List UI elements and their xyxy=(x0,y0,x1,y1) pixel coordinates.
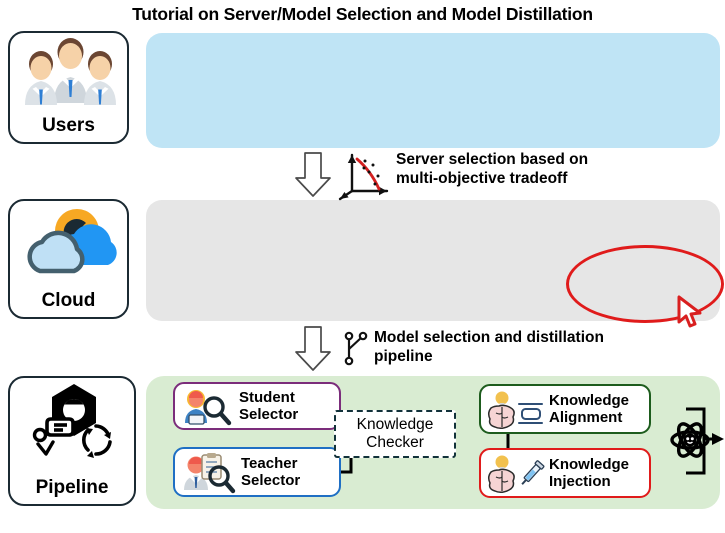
student-search-icon xyxy=(180,386,236,426)
role-label-users: Users xyxy=(42,116,95,142)
knowledge-alignment-line1: Knowledge xyxy=(549,392,629,409)
student-selector-line1: Student xyxy=(239,389,295,406)
pipeline-node-teacher-selector[interactable]: Teacher Selector xyxy=(173,447,341,497)
brain-screen-icon xyxy=(486,389,548,429)
cloud-weather-icon xyxy=(10,201,127,291)
diagram-canvas: Tutorial on Server/Model Selection and M… xyxy=(0,0,725,533)
pipeline-label-knowledge-checker: Knowledge Checker xyxy=(336,416,454,451)
connector2-label: Model selection and distillation pipelin… xyxy=(374,328,604,367)
role-label-pipeline: Pipeline xyxy=(36,478,109,504)
pipeline-node-knowledge-alignment[interactable]: Knowledge Alignment xyxy=(479,384,651,434)
role-label-cloud: Cloud xyxy=(42,291,96,317)
pipeline-node-knowledge-checker[interactable]: Knowledge Checker xyxy=(334,410,456,458)
atom-model-icon xyxy=(668,418,712,462)
pipeline-gear-icon xyxy=(10,378,134,478)
teacher-selector-line1: Teacher xyxy=(241,455,297,472)
pipeline-node-student-selector[interactable]: Student Selector xyxy=(173,382,341,430)
connector2-label-line1: Model selection and distillation xyxy=(374,328,604,347)
role-card-users[interactable]: Users xyxy=(8,31,129,144)
pipeline-label-knowledge-alignment: Knowledge Alignment xyxy=(549,392,629,426)
pareto-tradeoff-axes-icon xyxy=(335,147,395,199)
node-graph-icon xyxy=(340,328,376,370)
brain-syringe-icon xyxy=(486,453,548,493)
pipeline-label-knowledge-injection: Knowledge Injection xyxy=(549,456,629,490)
pipeline-label-student-selector: Student Selector xyxy=(239,389,298,423)
student-selector-line2: Selector xyxy=(239,406,298,423)
users-group-icon xyxy=(10,33,127,116)
hollow-down-arrow-icon-1 xyxy=(294,152,332,198)
knowledge-alignment-line2: Alignment xyxy=(549,409,622,426)
teacher-selector-line2: Selector xyxy=(241,472,300,489)
mouse-cursor-icon xyxy=(676,295,704,329)
teacher-search-icon xyxy=(180,451,240,493)
knowledge-injection-line2: Injection xyxy=(549,473,611,490)
knowledge-checker-line2: Checker xyxy=(366,434,424,451)
role-card-pipeline[interactable]: Pipeline xyxy=(8,376,136,506)
page-title: Tutorial on Server/Model Selection and M… xyxy=(0,4,725,25)
connector1-label: Server selection based on multi-objectiv… xyxy=(396,150,588,189)
pipeline-label-teacher-selector: Teacher Selector xyxy=(241,455,300,489)
connector1-label-line1: Server selection based on xyxy=(396,150,588,169)
role-card-cloud[interactable]: Cloud xyxy=(8,199,129,319)
knowledge-injection-line1: Knowledge xyxy=(549,456,629,473)
connector2-label-line2: pipeline xyxy=(374,347,604,366)
hollow-down-arrow-icon-2 xyxy=(294,326,332,372)
users-speech-bubble xyxy=(146,33,720,148)
pipeline-node-knowledge-injection[interactable]: Knowledge Injection xyxy=(479,448,651,498)
cloud-speech-bubble xyxy=(146,200,720,321)
connector1-label-line2: multi-objective tradeoff xyxy=(396,169,588,188)
knowledge-checker-line1: Knowledge xyxy=(357,416,434,433)
